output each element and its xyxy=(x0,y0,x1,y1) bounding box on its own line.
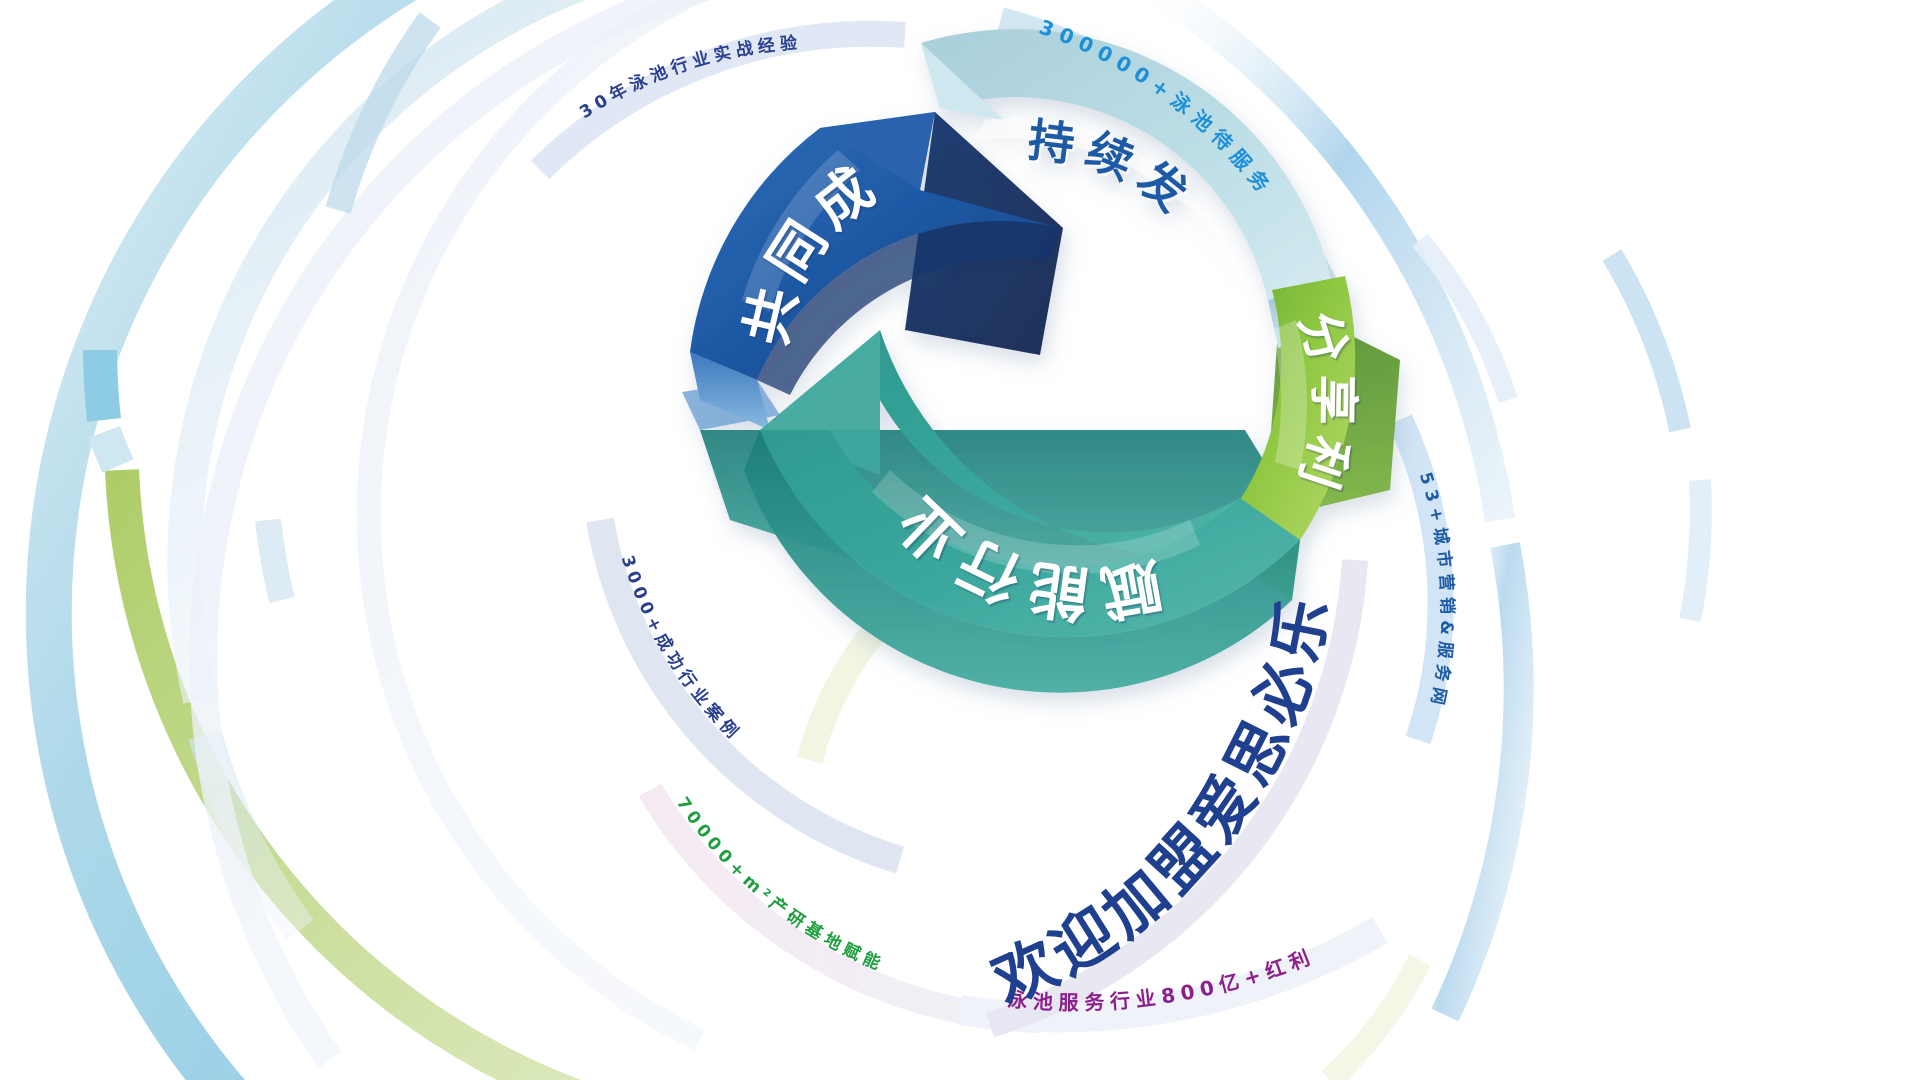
decor-arc-frag-6 xyxy=(810,625,880,760)
stat-base: 70000+m²产研基地赋能 xyxy=(672,794,888,976)
infographic-artwork: 持续发展 共同成长 分享利益 xyxy=(0,0,1920,1080)
decor-arc-blue-tip xyxy=(100,350,104,420)
decor-arc-frag-7 xyxy=(1330,960,1420,1080)
poster-canvas: 持续发展 共同成长 分享利益 xyxy=(0,0,1920,1080)
decor-arc-frag-4 xyxy=(1690,480,1701,620)
decor-arc-green-tip xyxy=(104,432,118,466)
segment-empower[interactable]: 赋能行业 xyxy=(744,330,1300,693)
decor-arc-frag-2 xyxy=(268,520,282,600)
decor-arc-frag-3 xyxy=(1612,255,1680,430)
